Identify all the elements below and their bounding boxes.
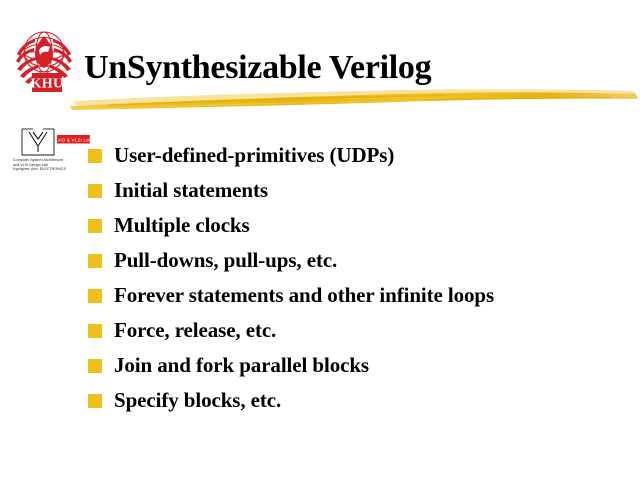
- lab-caption-line-3: Kyunghee Univ. ELECTRONICS: [13, 167, 91, 172]
- list-item: Pull-downs, pull-ups, etc.: [88, 245, 628, 280]
- square-bullet-icon: [88, 254, 102, 268]
- square-bullet-icon: [88, 289, 102, 303]
- square-bullet-icon: [88, 184, 102, 198]
- list-item-label: Multiple clocks: [114, 210, 250, 241]
- list-item: Initial statements: [88, 175, 628, 210]
- square-bullet-icon: [88, 394, 102, 408]
- list-item-label: Force, release, etc.: [114, 315, 276, 346]
- square-bullet-icon: [88, 219, 102, 233]
- page-title: UnSynthesizable Verilog: [84, 46, 431, 90]
- gold-brush-stroke-divider: [66, 86, 640, 112]
- list-item: User-defined-primitives (UDPs): [88, 140, 628, 175]
- presentation-slide: KHU UnSynthesizable Verilog: [0, 0, 640, 480]
- list-item: Specify blocks, etc.: [88, 385, 628, 420]
- lab-logo-caption: Computer System Architecture and VLSI De…: [13, 158, 91, 172]
- list-item: Forever statements and other infinite lo…: [88, 280, 628, 315]
- list-item-label: Join and fork parallel blocks: [114, 350, 369, 381]
- list-item-label: Pull-downs, pull-ups, etc.: [114, 245, 337, 276]
- svg-text:KHU: KHU: [30, 77, 63, 92]
- list-item-label: Initial statements: [114, 175, 268, 206]
- list-item-label: Specify blocks, etc.: [114, 385, 281, 416]
- slide-bullet-list: User-defined-primitives (UDPs) Initial s…: [88, 140, 628, 420]
- list-item: Join and fork parallel blocks: [88, 350, 628, 385]
- cad-vlsi-lab-logo-icon: CAD & VLSI Lab Computer System Architect…: [13, 126, 91, 180]
- svg-text:CAD & VLSI Lab: CAD & VLSI Lab: [55, 137, 91, 142]
- list-item-label: Forever statements and other infinite lo…: [114, 280, 494, 311]
- list-item-label: User-defined-primitives (UDPs): [114, 140, 394, 171]
- list-item: Multiple clocks: [88, 210, 628, 245]
- square-bullet-icon: [88, 359, 102, 373]
- square-bullet-icon: [88, 149, 102, 163]
- list-item: Force, release, etc.: [88, 315, 628, 350]
- square-bullet-icon: [88, 324, 102, 338]
